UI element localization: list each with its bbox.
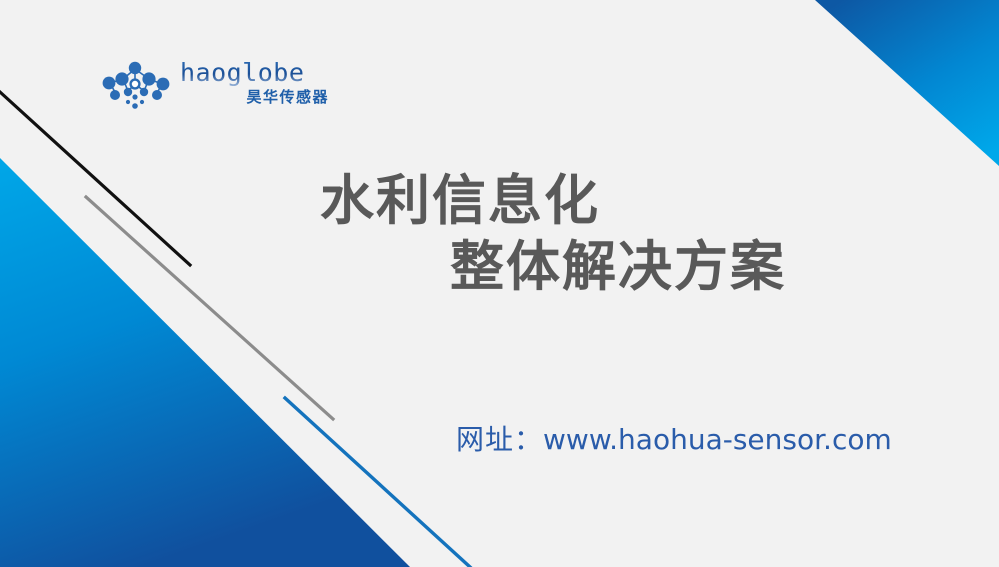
website-url[interactable]: www.haohua-sensor.com [543, 423, 892, 456]
top-right-blue-triangle [815, 0, 999, 166]
presentation-title-slide: haoglobe 昊华传感器 水利信息化 整体解决方案 网址：www.haohu… [0, 0, 999, 567]
website-line: 网址：www.haohua-sensor.com [456, 423, 892, 457]
haoglobe-molecule-icon [97, 57, 175, 111]
logo-chinese-name: 昊华传感器 [246, 90, 329, 105]
title-line-1: 水利信息化 [320, 168, 920, 234]
page-title: 水利信息化 整体解决方案 [320, 168, 920, 300]
website-label: 网址： [456, 423, 543, 456]
title-line-2: 整体解决方案 [320, 234, 920, 300]
logo-wordmark-text: haoglobe [180, 59, 304, 87]
logo-wordmark-group: haoglobe 昊华传感器 [180, 57, 330, 105]
company-logo: haoglobe 昊华传感器 [97, 57, 322, 117]
haoglobe-wordmark-icon: haoglobe [180, 59, 330, 87]
